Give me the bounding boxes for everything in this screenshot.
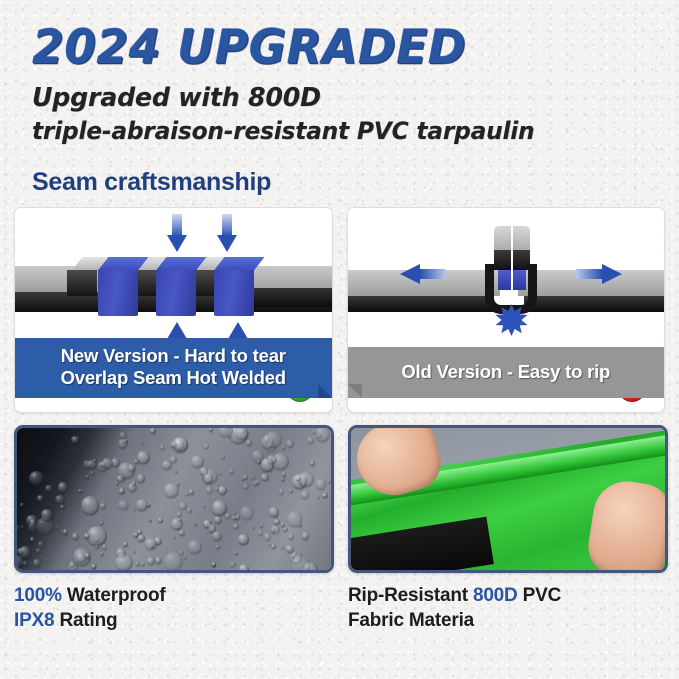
water-droplet — [102, 458, 113, 469]
water-droplet — [209, 427, 214, 432]
water-droplet — [286, 440, 294, 448]
water-droplet — [136, 562, 140, 566]
old-version-label: Old Version - Easy to rip — [358, 361, 655, 383]
water-droplet — [123, 542, 128, 547]
water-droplet — [287, 511, 303, 527]
water-droplet — [141, 562, 144, 565]
water-droplet — [219, 472, 222, 475]
water-droplet — [150, 428, 156, 434]
water-droplet — [63, 529, 68, 534]
water-droplet — [102, 544, 107, 549]
water-droplet — [134, 459, 139, 464]
water-droplet — [141, 441, 144, 444]
water-droplet — [214, 516, 222, 524]
pvc-suffix: PVC — [518, 585, 562, 606]
water-droplet — [317, 434, 321, 438]
water-droplet — [269, 507, 279, 517]
new-version-illustration — [15, 208, 332, 360]
weld-block-3 — [219, 257, 259, 315]
water-droplet — [212, 531, 222, 541]
water-droplet — [235, 515, 240, 520]
water-droplet — [38, 541, 44, 547]
water-droplet — [212, 562, 216, 566]
water-droplet — [70, 561, 75, 566]
water-droplet — [289, 489, 293, 493]
water-droplet — [310, 461, 315, 466]
pull-arrow-left-icon — [400, 264, 446, 284]
subtitle-line-2: triple-abraison-resistant PVC tarpaulin — [32, 117, 632, 146]
water-droplet — [58, 482, 69, 493]
water-droplet — [30, 537, 35, 542]
water-droplet — [81, 496, 100, 515]
water-droplet — [46, 559, 49, 562]
water-droplet — [258, 530, 264, 536]
water-droplet — [164, 552, 183, 571]
water-droplet — [72, 533, 79, 540]
water-droplet — [147, 504, 150, 507]
water-droplet — [191, 455, 204, 468]
rating-word: Rating — [54, 610, 117, 631]
water-droplet — [282, 447, 285, 450]
water-droplet — [33, 559, 41, 567]
water-droplet — [36, 548, 41, 553]
water-droplet — [71, 436, 79, 444]
subtitle-line-1: Upgraded with 800D — [32, 83, 321, 113]
water-droplet — [179, 502, 187, 510]
rip-resistant-caption-line-1: Rip-Resistant 800D PVC — [348, 584, 668, 609]
old-version-label-bar: Old Version - Easy to rip — [348, 347, 665, 398]
subtitle-block: Upgraded with 800D triple-abraison-resis… — [32, 83, 632, 146]
water-droplet — [265, 431, 282, 448]
water-droplet — [243, 484, 248, 489]
weld-block-top-1 — [98, 257, 149, 271]
old-version-illustration — [348, 208, 665, 360]
water-droplet — [100, 552, 104, 556]
water-droplet — [246, 440, 252, 446]
water-droplet — [212, 500, 228, 516]
water-droplet — [118, 500, 129, 511]
weld-block-face-2 — [156, 270, 196, 316]
water-droplet — [317, 496, 320, 499]
water-droplet — [252, 526, 255, 529]
water-droplet — [189, 489, 194, 494]
water-droplet — [236, 427, 249, 440]
waterproof-percent: 100% — [14, 585, 62, 606]
water-droplet — [84, 533, 90, 539]
water-droplet — [291, 556, 309, 573]
water-droplet — [173, 536, 176, 539]
black-sheet-right — [524, 296, 665, 312]
water-droplet — [151, 544, 155, 548]
water-droplet — [21, 525, 25, 529]
waterproof-caption-line-1: 100% Waterproof — [14, 584, 334, 609]
water-droplet — [162, 460, 172, 470]
feature-card-waterproof: 100% Waterproof IPX8 Rating — [14, 425, 334, 633]
water-droplet — [81, 489, 84, 492]
water-droplet — [279, 489, 285, 495]
water-droplet — [95, 545, 98, 548]
bar-notch-right — [318, 384, 332, 398]
weld-block-face-3 — [214, 270, 254, 316]
water-droplet — [119, 432, 126, 439]
water-droplet — [203, 504, 206, 507]
ipx8-rating-code: IPX8 — [14, 610, 54, 631]
water-droplet — [115, 554, 133, 572]
water-droplet — [91, 564, 96, 569]
water-droplet — [282, 472, 287, 477]
black-sheet-left — [348, 296, 494, 312]
water-droplet — [121, 446, 124, 449]
weld-block-face-1 — [98, 270, 138, 316]
water-droplet — [170, 441, 177, 448]
water-droplet — [215, 545, 219, 549]
pull-arrow-right-icon — [576, 264, 622, 284]
water-droplet — [307, 437, 314, 444]
water-droplet — [281, 546, 284, 549]
water-droplet — [45, 485, 53, 493]
water-droplet — [41, 509, 53, 521]
water-droplet — [177, 512, 182, 517]
water-droplet — [133, 508, 136, 511]
green-pvc-fabric-photo — [351, 428, 665, 570]
feature-card-rip-resistant: Rip-Resistant 800D PVC Fabric Materia — [348, 425, 668, 633]
water-droplet — [274, 519, 280, 525]
water-droplet — [316, 479, 327, 490]
water-droplet — [288, 534, 295, 541]
pvc-photo-frame — [348, 425, 668, 573]
overlap-lip-side-1 — [67, 270, 97, 296]
water-droplet — [264, 533, 271, 540]
waterproof-caption-line-2: IPX8 Rating — [14, 609, 334, 634]
seam-split-line — [511, 226, 513, 290]
weld-block-top-2 — [156, 257, 207, 271]
water-droplet — [100, 521, 104, 525]
water-droplet — [158, 518, 163, 523]
water-droplet — [301, 491, 308, 498]
waterproof-caption: 100% Waterproof IPX8 Rating — [14, 584, 334, 633]
water-droplet — [204, 444, 208, 448]
water-droplet — [123, 439, 127, 443]
water-droplet — [271, 544, 276, 549]
waterproof-photo-frame — [14, 425, 334, 573]
card-new-version: ✔ New Version - Hard to tear Overlap Sea… — [14, 207, 333, 413]
section-heading-seam-craftsmanship: Seam craftsmanship — [32, 168, 651, 197]
water-droplet — [302, 532, 310, 540]
water-droplet — [322, 493, 327, 498]
water-droplet — [175, 470, 178, 473]
card-old-version: ✖ Old Version - Easy to rip — [347, 207, 666, 413]
press-arrow-down-icon-2 — [217, 214, 237, 254]
water-droplet — [160, 445, 164, 449]
header-block: 2024 UPGRADED Upgraded with 800D triple-… — [0, 0, 679, 197]
water-droplet — [14, 525, 20, 531]
page-title: 2024 UPGRADED — [32, 24, 632, 71]
feature-photo-row: 100% Waterproof IPX8 Rating — [0, 413, 679, 633]
water-droplet — [238, 534, 249, 545]
water-droplet — [239, 564, 249, 573]
water-droplet — [119, 488, 125, 494]
water-droplet — [128, 483, 137, 492]
water-droplet — [225, 513, 231, 519]
water-droplet — [187, 508, 192, 513]
water-droplet — [20, 503, 24, 507]
water-droplet — [133, 550, 136, 553]
water-droplet — [60, 505, 65, 510]
new-version-label-line-1: New Version - Hard to tear — [25, 345, 322, 367]
water-droplet — [240, 506, 254, 520]
water-droplet — [234, 551, 238, 555]
water-droplet — [55, 495, 65, 505]
water-droplet — [188, 540, 202, 554]
water-droplet — [283, 527, 288, 532]
bar-notch-left — [348, 384, 362, 398]
water-droplet — [171, 518, 183, 530]
water-droplet — [100, 503, 106, 509]
water-droplet — [261, 458, 274, 471]
water-droplet — [233, 524, 238, 529]
water-droplet — [327, 480, 331, 484]
water-droplet — [137, 529, 142, 534]
water-droplet — [155, 557, 162, 564]
rip-resistant-caption: Rip-Resistant 800D PVC Fabric Materia — [348, 584, 668, 633]
water-droplet — [90, 471, 94, 475]
water-droplet — [147, 557, 155, 565]
rip-resistant-prefix: Rip-Resistant — [348, 585, 473, 606]
denier-rating-800d: 800D — [473, 585, 518, 606]
rip-resistant-caption-line-2: Fabric Materia — [348, 609, 668, 634]
water-droplet — [164, 483, 179, 498]
water-droplet — [229, 469, 234, 474]
water-droplet — [128, 464, 135, 471]
water-droplet — [222, 456, 225, 459]
infographic-root: 2024 UPGRADED Upgraded with 800D triple-… — [0, 0, 679, 679]
water-droplet — [185, 493, 189, 497]
water-droplet — [116, 482, 119, 485]
water-droplet — [179, 530, 185, 536]
water-droplet — [29, 471, 44, 486]
water-droplet — [17, 548, 23, 554]
water-droplet — [230, 562, 236, 568]
water-droplets-photo — [17, 428, 331, 570]
water-droplet — [37, 495, 44, 502]
weld-block-1 — [103, 257, 143, 315]
new-version-label-bar: New Version - Hard to tear Overlap Seam … — [15, 338, 332, 398]
water-droplet — [194, 523, 197, 526]
water-droplet — [218, 486, 227, 495]
water-droplet — [86, 475, 89, 478]
water-droplet — [298, 472, 313, 487]
water-droplet — [256, 480, 260, 484]
water-droplet — [243, 475, 248, 480]
water-droplet — [281, 478, 285, 482]
weld-block-2 — [161, 257, 201, 315]
water-droplet — [260, 524, 264, 528]
press-arrow-down-icon-1 — [167, 214, 187, 254]
water-droplet — [56, 526, 59, 529]
water-droplet — [184, 556, 188, 560]
weld-block-top-3 — [214, 257, 265, 271]
seam-comparison-row: ✔ New Version - Hard to tear Overlap Sea… — [0, 197, 679, 413]
water-droplet — [28, 522, 38, 532]
water-droplet — [149, 519, 152, 522]
waterproof-word: Waterproof — [62, 585, 166, 606]
droplet-layer — [17, 428, 331, 570]
new-version-label-line-2: Overlap Seam Hot Welded — [25, 367, 322, 389]
water-droplet — [137, 474, 146, 483]
water-droplet — [271, 529, 275, 533]
water-droplet — [206, 486, 213, 493]
water-droplet — [251, 476, 254, 479]
water-droplet — [261, 474, 269, 482]
water-droplet — [202, 476, 205, 479]
